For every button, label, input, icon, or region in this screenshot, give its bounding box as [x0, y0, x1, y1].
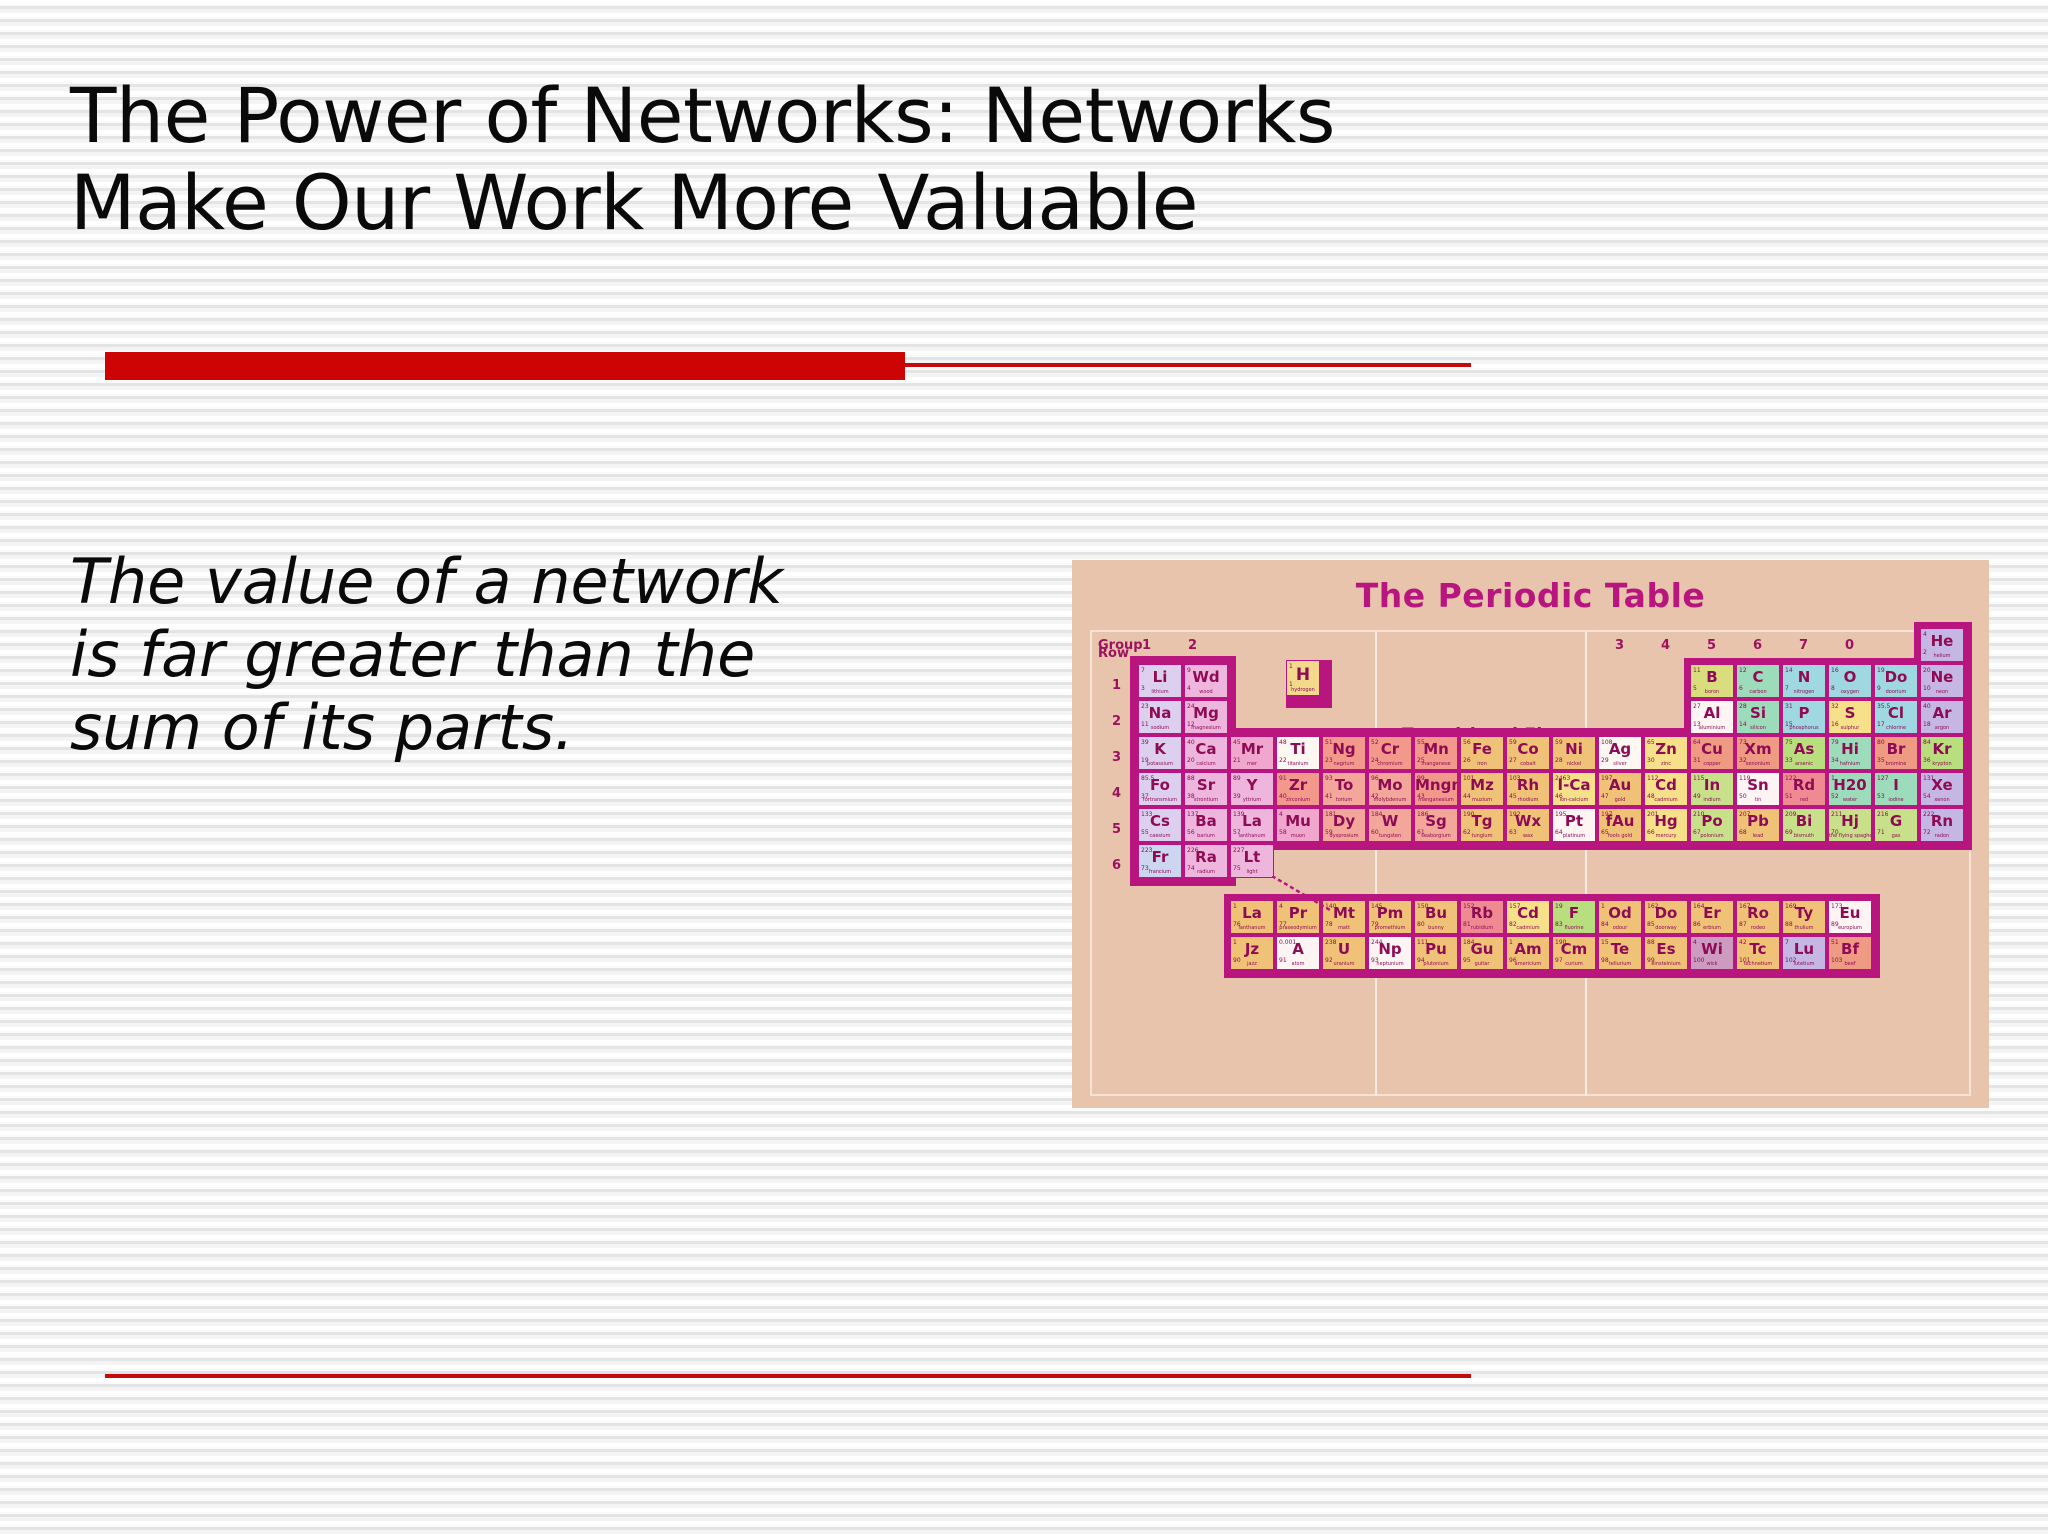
- element-symbol: Zr: [1277, 778, 1319, 793]
- element-symbol: Ag: [1599, 742, 1641, 757]
- element-cell-Es-act: 88Es99einsteinium: [1644, 936, 1688, 970]
- element-name: argon: [1921, 726, 1963, 731]
- element-name: matt: [1323, 926, 1365, 931]
- element-cell-Ag: 108Ag29silver: [1598, 736, 1642, 770]
- element-symbol: Do: [1875, 670, 1917, 685]
- element-name: silver: [1599, 762, 1641, 767]
- element-symbol: Eu: [1829, 906, 1871, 921]
- element-cell-Au: 197Au47gold: [1598, 772, 1642, 806]
- element-name: francium: [1139, 870, 1181, 875]
- element-cell-Co: 59Co27cobalt: [1506, 736, 1550, 770]
- element-symbol: To: [1323, 778, 1365, 793]
- element-cell-Al: 27Al13aluminium: [1690, 700, 1734, 734]
- element-symbol: Ar: [1921, 706, 1963, 721]
- footer-divider: [105, 1374, 1471, 1378]
- element-cell-Mu: 4Mu58muon: [1276, 808, 1320, 842]
- element-name: uranium: [1323, 962, 1365, 967]
- periodic-table-divider-left: [1375, 632, 1377, 1096]
- element-name: cadmium: [1645, 798, 1687, 803]
- element-cell-Kr: 84Kr36krypton: [1920, 736, 1964, 770]
- element-symbol: Sr: [1185, 778, 1227, 793]
- element-name: curium: [1553, 962, 1595, 967]
- element-symbol: Mu: [1277, 814, 1319, 829]
- title-divider-accent-bar: [105, 352, 905, 380]
- element-cell-Wx: 192Wx63wax: [1506, 808, 1550, 842]
- element-name: dysprosium: [1323, 834, 1365, 839]
- element-cell-U-act: 238U92uranium: [1322, 936, 1366, 970]
- element-cell-Pm-lan: 145Pm79promethium: [1368, 900, 1412, 934]
- element-symbol: Hj: [1829, 814, 1871, 829]
- element-symbol: Am: [1507, 942, 1549, 957]
- element-symbol: Cr: [1369, 742, 1411, 757]
- element-symbol: Pu: [1415, 942, 1457, 957]
- element-symbol: Ne: [1921, 670, 1963, 685]
- element-cell-Zn: 65Zn30zinc: [1644, 736, 1688, 770]
- element-symbol: Cs: [1139, 814, 1181, 829]
- element-name: muon: [1277, 834, 1319, 839]
- element-symbol: Br: [1875, 742, 1917, 757]
- element-name: caesium: [1139, 834, 1181, 839]
- element-name: chlorine: [1875, 726, 1917, 731]
- element-symbol: La: [1231, 814, 1273, 829]
- periodic-table-title: The Periodic Table: [1072, 576, 1989, 615]
- element-name: technetium: [1737, 962, 1779, 967]
- element-symbol: Np: [1369, 942, 1411, 957]
- element-symbol: Ba: [1185, 814, 1227, 829]
- element-symbol: Bu: [1415, 906, 1457, 921]
- element-name: strontium: [1185, 798, 1227, 803]
- element-symbol: Cu: [1691, 742, 1733, 757]
- element-cell-Jz-act: 1Jz90jazz: [1230, 936, 1274, 970]
- element-symbol: U: [1323, 942, 1365, 957]
- element-cell-Do-lan: 162Do85doorway: [1644, 900, 1688, 934]
- group-number-1: 1: [1142, 638, 1151, 653]
- element-symbol: Na: [1139, 706, 1181, 721]
- element-name: xenon: [1921, 798, 1963, 803]
- element-symbol: Rn: [1921, 814, 1963, 829]
- element-symbol: Pb: [1737, 814, 1779, 829]
- group-number-2: 2: [1188, 638, 1197, 653]
- element-symbol: As: [1783, 742, 1825, 757]
- element-cell-Cd: 112Cd48cadmium: [1644, 772, 1688, 806]
- element-symbol: Al: [1691, 706, 1733, 721]
- element-cell-P: 31P15phosphorus: [1782, 700, 1826, 734]
- element-symbol: W: [1369, 814, 1411, 829]
- element-symbol: Cd: [1507, 906, 1549, 921]
- element-name: tellurium: [1599, 962, 1641, 967]
- element-name: tungium: [1461, 834, 1503, 839]
- element-name: doorway: [1645, 926, 1687, 931]
- element-symbol: H20: [1829, 778, 1871, 793]
- element-name: promethium: [1369, 926, 1411, 931]
- element-cell-Od-lan: 1Od84odour: [1598, 900, 1642, 934]
- element-symbol: Fo: [1139, 778, 1181, 793]
- element-name: plutonium: [1415, 962, 1457, 967]
- element-name: torium: [1323, 798, 1365, 803]
- element-symbol: In: [1691, 778, 1733, 793]
- group-number-r5: 0: [1845, 638, 1854, 653]
- group-number-r4: 7: [1799, 638, 1808, 653]
- element-symbol: Cd: [1645, 778, 1687, 793]
- element-name: boron: [1691, 690, 1733, 695]
- element-name: aluminium: [1691, 726, 1733, 731]
- element-name: rodeo: [1737, 926, 1779, 931]
- element-cell-Ra: 226Ra74radium: [1184, 844, 1228, 878]
- element-symbol: Wx: [1507, 814, 1549, 829]
- element-symbol: Zn: [1645, 742, 1687, 757]
- element-cell-Mo: 96Mo42molybdenum: [1368, 772, 1412, 806]
- element-name: bromine: [1875, 762, 1917, 767]
- element-symbol: Pm: [1369, 906, 1411, 921]
- element-name: praseodymium: [1277, 926, 1319, 931]
- element-cell-H20: 1H2052water: [1828, 772, 1872, 806]
- element-name: erbium: [1691, 926, 1733, 931]
- element-cell-Mz: 101Mz44muzium: [1460, 772, 1504, 806]
- element-symbol: P: [1783, 706, 1825, 721]
- element-symbol: Hi: [1829, 742, 1871, 757]
- element-symbol: Lt: [1231, 850, 1273, 865]
- element-name: nitrogen: [1783, 690, 1825, 695]
- element-symbol: Ca: [1185, 742, 1227, 757]
- element-symbol: Es: [1645, 942, 1687, 957]
- row-header-label: Row: [1098, 646, 1134, 661]
- element-cell-Tc-act: 42Tc101technetium: [1736, 936, 1780, 970]
- element-name: lanthanum: [1231, 834, 1273, 839]
- element-cell-Ni: 59Ni28nickel: [1552, 736, 1596, 770]
- element-name: americium: [1507, 962, 1549, 967]
- element-cell-Gu-act: 184Gu95guitar: [1460, 936, 1504, 970]
- title-block: The Power of Networks: Networks Make Our…: [70, 72, 1470, 247]
- element-cell-B: 11B5boron: [1690, 664, 1734, 698]
- element-symbol: Pt: [1553, 814, 1595, 829]
- element-name: phosphorus: [1783, 726, 1825, 731]
- element-cell-Cl: 35.5Cl17chlorine: [1874, 700, 1918, 734]
- element-cell-As: 75As33arsenic: [1782, 736, 1826, 770]
- element-cell-Mr: 45Mr21mer: [1230, 736, 1274, 770]
- element-symbol: Rh: [1507, 778, 1549, 793]
- element-name: fluorine: [1553, 926, 1595, 931]
- element-name: atom: [1277, 962, 1319, 967]
- element-symbol: Xe: [1921, 778, 1963, 793]
- element-symbol: Mo: [1369, 778, 1411, 793]
- element-name: seaborgium: [1415, 834, 1457, 839]
- element-symbol: Te: [1599, 942, 1641, 957]
- element-name: bunny: [1415, 926, 1457, 931]
- title-divider: [105, 352, 1471, 380]
- element-name: einsteinium: [1645, 962, 1687, 967]
- element-name: potassium: [1139, 762, 1181, 767]
- group-number-r2: 5: [1707, 638, 1716, 653]
- element-symbol: Mz: [1461, 778, 1503, 793]
- element-name: iodine: [1875, 798, 1917, 803]
- element-name: lead: [1737, 834, 1779, 839]
- element-symbol: Mn: [1415, 742, 1457, 757]
- hydrogen-cell-frame: 1H1hydrogen: [1286, 660, 1332, 708]
- group-number-r3: 6: [1753, 638, 1762, 653]
- element-symbol: Wd: [1185, 670, 1227, 685]
- element-symbol: Ty: [1783, 906, 1825, 921]
- element-cell-Bu-lan: 150Bu80bunny: [1414, 900, 1458, 934]
- element-cell-Hg: 201Hg66mercury: [1644, 808, 1688, 842]
- element-symbol: Cm: [1553, 942, 1595, 957]
- element-cell-Eu-lan: 173Eu89europium: [1828, 900, 1872, 934]
- element-symbol: Si: [1737, 706, 1779, 721]
- element-symbol: Ra: [1185, 850, 1227, 865]
- element-name: wick: [1691, 962, 1733, 967]
- element-name: cadmium: [1507, 926, 1549, 931]
- element-symbol: fAu: [1599, 814, 1641, 829]
- element-name: guitar: [1461, 962, 1503, 967]
- element-name: hydrogen: [1287, 688, 1319, 693]
- element-symbol: N: [1783, 670, 1825, 685]
- element-symbol: Sg: [1415, 814, 1457, 829]
- element-symbol: Wi: [1691, 942, 1733, 957]
- element-cell-Ar: 40Ar18argon: [1920, 700, 1964, 734]
- element-name: odour: [1599, 926, 1641, 931]
- element-name: helium: [1921, 654, 1963, 659]
- element-symbol: Mngm: [1415, 778, 1457, 793]
- element-name: platinum: [1553, 834, 1595, 839]
- element-cell-Er-lan: 164Er86erbium: [1690, 900, 1734, 934]
- element-symbol: Bi: [1783, 814, 1825, 829]
- element-cell-Sn: 119Sn50tin: [1736, 772, 1780, 806]
- element-name: iron: [1461, 762, 1503, 767]
- element-symbol: Do: [1645, 906, 1687, 921]
- element-symbol: Tg: [1461, 814, 1503, 829]
- element-cell-He: 4He2helium: [1920, 628, 1964, 662]
- element-symbol: Lu: [1783, 942, 1825, 957]
- element-cell-Na: 23Na11sodium: [1138, 700, 1182, 734]
- element-symbol: I: [1875, 778, 1917, 793]
- element-name: neptunium: [1369, 962, 1411, 967]
- element-cell-C: 12C6carbon: [1736, 664, 1780, 698]
- element-name: oxygen: [1829, 690, 1871, 695]
- element-symbol: Y: [1231, 778, 1273, 793]
- element-symbol: Rb: [1461, 906, 1503, 921]
- element-cell-Rn: 222Rn72radon: [1920, 808, 1964, 842]
- element-name: nickel: [1553, 762, 1595, 767]
- element-cell-I: 127I53iodine: [1874, 772, 1918, 806]
- element-symbol: Tc: [1737, 942, 1779, 957]
- element-name: rhodium: [1507, 798, 1549, 803]
- element-cell-O: 16O8oxygen: [1828, 664, 1872, 698]
- element-cell-I-Ca: 2463I-Ca46ion-calcium: [1552, 772, 1596, 806]
- element-cell-Rb-lan: 152Rb81rubidium: [1460, 900, 1504, 934]
- element-cell-K: 39K19potassium: [1138, 736, 1182, 770]
- element-cell-Cm-act: 190Cm97curium: [1552, 936, 1596, 970]
- element-cell-Lu-act: 7Lu102lutetium: [1782, 936, 1826, 970]
- element-name: carbon: [1737, 690, 1779, 695]
- element-cell-Po: 210Po67polonium: [1690, 808, 1734, 842]
- element-symbol: K: [1139, 742, 1181, 757]
- element-cell-Dy: 181Dy59dysprosium: [1322, 808, 1366, 842]
- element-name: neon: [1921, 690, 1963, 695]
- element-cell-In: 115In49indium: [1690, 772, 1734, 806]
- element-name: mer: [1231, 762, 1273, 767]
- element-symbol: Bf: [1829, 942, 1871, 957]
- element-cell-Ba: 137Ba56barium: [1184, 808, 1228, 842]
- element-name: indium: [1691, 798, 1733, 803]
- f-block-connector-line: [1272, 876, 1342, 920]
- element-name: lutetium: [1783, 962, 1825, 967]
- element-cell-Tg: 190Tg62tungium: [1460, 808, 1504, 842]
- element-cell-Ro-lan: 167Ro87rodeo: [1736, 900, 1780, 934]
- element-symbol: Au: [1599, 778, 1641, 793]
- element-cell-Fo: 85.5Fo37fortransmium: [1138, 772, 1182, 806]
- element-cell-Wd: 9Wd4wood: [1184, 664, 1228, 698]
- element-symbol: I-Ca: [1553, 778, 1595, 793]
- element-name: molybdenum: [1369, 798, 1411, 803]
- element-symbol: Ni: [1553, 742, 1595, 757]
- element-symbol: C: [1737, 670, 1779, 685]
- element-name: the flying spaghetti: [1829, 834, 1871, 839]
- element-symbol: F: [1553, 906, 1595, 921]
- element-cell-Do: 19Do9doorium: [1874, 664, 1918, 698]
- element-name: rubidium: [1461, 926, 1503, 931]
- element-cell-Wi-act: 4Wi100wick: [1690, 936, 1734, 970]
- element-name: fortransmium: [1139, 798, 1181, 803]
- element-name: yttrium: [1231, 798, 1273, 803]
- element-symbol: A: [1277, 942, 1319, 957]
- element-cell-Cd-lan: 157Cd82cadmium: [1506, 900, 1550, 934]
- element-name: red: [1783, 798, 1825, 803]
- slide-canvas: The Power of Networks: Networks Make Our…: [0, 0, 2048, 1536]
- element-cell-Cs: 133Cs55caesium: [1138, 808, 1182, 842]
- element-name: lanthanum: [1231, 926, 1273, 931]
- element-symbol: B: [1691, 670, 1733, 685]
- element-cell-La-lan: 1La76lanthanum: [1230, 900, 1274, 934]
- element-name: magnesium: [1185, 726, 1227, 731]
- element-symbol: Od: [1599, 906, 1641, 921]
- element-cell-F-lan: 19F83fluorine: [1552, 900, 1596, 934]
- element-name: jazz: [1231, 962, 1273, 967]
- element-cell-S: 32S16sulphur: [1828, 700, 1872, 734]
- element-symbol: Po: [1691, 814, 1733, 829]
- element-symbol: Mg: [1185, 706, 1227, 721]
- element-name: negrium: [1323, 762, 1365, 767]
- element-symbol: Er: [1691, 906, 1733, 921]
- element-cell-Lt: 227Lt75light: [1230, 844, 1274, 878]
- element-symbol: Sn: [1737, 778, 1779, 793]
- element-name: muzium: [1461, 798, 1503, 803]
- page-title: The Power of Networks: Networks Make Our…: [70, 72, 1470, 247]
- element-cell-Hi: 79Hi34hafnium: [1828, 736, 1872, 770]
- element-cell-H: 1H1hydrogen: [1286, 660, 1320, 696]
- element-symbol: La: [1231, 906, 1273, 921]
- element-symbol: Fr: [1139, 850, 1181, 865]
- element-name: polonium: [1691, 834, 1733, 839]
- element-cell-Xe: 131Xe54xenon: [1920, 772, 1964, 806]
- element-name: wax: [1507, 834, 1549, 839]
- element-cell-Zr: 91Zr40zirconium: [1276, 772, 1320, 806]
- element-name: calcium: [1185, 762, 1227, 767]
- element-name: barium: [1185, 834, 1227, 839]
- element-symbol: Ti: [1277, 742, 1319, 757]
- element-name: wood: [1185, 690, 1227, 695]
- element-symbol: S: [1829, 706, 1871, 721]
- element-symbol: Gu: [1461, 942, 1503, 957]
- element-cell-Ca: 40Ca20calcium: [1184, 736, 1228, 770]
- element-name: tin: [1737, 798, 1779, 803]
- element-name: thulium: [1783, 926, 1825, 931]
- element-cell-Ng: 51Ng23negrium: [1322, 736, 1366, 770]
- element-cell-Rh: 103Rh45rhodium: [1506, 772, 1550, 806]
- element-cell-W: 184W60tungsten: [1368, 808, 1412, 842]
- element-name: europium: [1829, 926, 1871, 931]
- periodic-table-divider-right: [1585, 632, 1587, 1096]
- element-name: ion-calcium: [1553, 798, 1595, 803]
- element-symbol: Xm: [1737, 742, 1779, 757]
- element-symbol: Hg: [1645, 814, 1687, 829]
- group-number-r1: 4: [1661, 638, 1670, 653]
- element-name: water: [1829, 798, 1871, 803]
- element-cell-Fr: 223Fr73francium: [1138, 844, 1182, 878]
- element-name: copper: [1691, 762, 1733, 767]
- element-symbol: G: [1875, 814, 1917, 829]
- element-cell-N: 14N7nitrogen: [1782, 664, 1826, 698]
- element-cell-Ne: 20Ne10neon: [1920, 664, 1964, 698]
- element-name: xenonium: [1737, 762, 1779, 767]
- element-cell-Am-act: 1Am96americium: [1506, 936, 1550, 970]
- element-symbol: O: [1829, 670, 1871, 685]
- element-name: tungsten: [1369, 834, 1411, 839]
- element-cell-Sg: 186Sg61seaborgium: [1414, 808, 1458, 842]
- element-cell-Rd: 122Rd51red: [1782, 772, 1826, 806]
- element-name: manganesium: [1415, 798, 1457, 803]
- element-cell-Br: 80Br35bromine: [1874, 736, 1918, 770]
- element-cell-Pt: 195Pt64platinum: [1552, 808, 1596, 842]
- element-name: doorium: [1875, 690, 1917, 695]
- element-cell-Te-act: 15Te98tellurium: [1598, 936, 1642, 970]
- element-name: titanium: [1277, 762, 1319, 767]
- element-cell-A-act: 0.001A91atom: [1276, 936, 1320, 970]
- element-cell-Ti: 48Ti22titanium: [1276, 736, 1320, 770]
- element-cell-Mn: 55Mn25manganese: [1414, 736, 1458, 770]
- element-name: fools gold: [1599, 834, 1641, 839]
- element-name: zinc: [1645, 762, 1687, 767]
- element-name: light: [1231, 870, 1273, 875]
- element-symbol: Fe: [1461, 742, 1503, 757]
- element-cell-Pb: 207Pb68lead: [1736, 808, 1780, 842]
- element-cell-Sr: 88Sr38strontium: [1184, 772, 1228, 806]
- element-name: bismuth: [1783, 834, 1825, 839]
- element-cell-Mngm: 99Mngm43manganesium: [1414, 772, 1458, 806]
- element-name: krypton: [1921, 762, 1963, 767]
- element-cell-G: 216G71gas: [1874, 808, 1918, 842]
- element-cell-Mg: 24Mg12magnesium: [1184, 700, 1228, 734]
- element-cell-La: 139La57lanthanum: [1230, 808, 1274, 842]
- element-symbol: Cl: [1875, 706, 1917, 721]
- element-symbol: Li: [1139, 670, 1181, 685]
- element-cell-Np-act: 244Np93neptunium: [1368, 936, 1412, 970]
- element-symbol: Rd: [1783, 778, 1825, 793]
- element-cell-Y: 89Y39yttrium: [1230, 772, 1274, 806]
- element-name: radon: [1921, 834, 1963, 839]
- element-cell-Pu-act: 111Pu94plutonium: [1414, 936, 1458, 970]
- element-name: hafnium: [1829, 762, 1871, 767]
- periodic-table-image: The Periodic Table Group12345670 Row1234…: [1072, 560, 1989, 1108]
- element-cell-Bi: 209Bi69bismuth: [1782, 808, 1826, 842]
- element-name: sulphur: [1829, 726, 1871, 731]
- element-name: mercury: [1645, 834, 1687, 839]
- element-symbol: Ro: [1737, 906, 1779, 921]
- element-cell-Fe: 56Fe26iron: [1460, 736, 1504, 770]
- element-symbol: Jz: [1231, 942, 1273, 957]
- element-cell-Cr: 52Cr24chromium: [1368, 736, 1412, 770]
- element-name: sodium: [1139, 726, 1181, 731]
- element-symbol: Kr: [1921, 742, 1963, 757]
- element-cell-Xm: 73Xm32xenonium: [1736, 736, 1780, 770]
